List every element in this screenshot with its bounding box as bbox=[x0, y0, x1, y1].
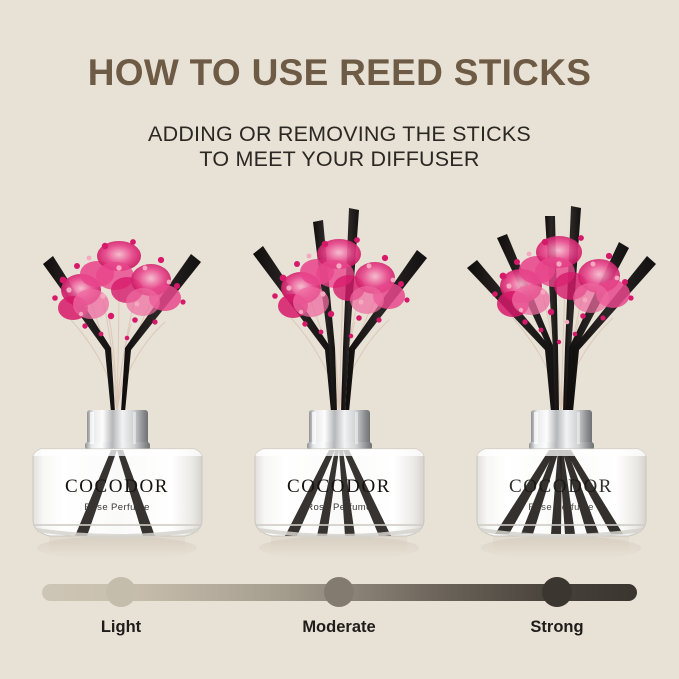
diffuser-bottle-strong: COCODOR Rose Perfume bbox=[459, 408, 664, 563]
product-moderate: COCODOR Rose Perfume bbox=[237, 198, 442, 563]
slider-knob-light[interactable] bbox=[106, 577, 136, 607]
subtitle-line-1: ADDING OR REMOVING THE STICKS bbox=[0, 122, 679, 147]
bottle-brand-name: COCODOR bbox=[509, 476, 613, 497]
infographic-page: HOW TO USE REED STICKS ADDING OR REMOVIN… bbox=[0, 0, 679, 679]
page-title: HOW TO USE REED STICKS bbox=[0, 52, 679, 94]
reed-arrangement-moderate bbox=[237, 198, 442, 413]
slider-knob-moderate[interactable] bbox=[324, 577, 354, 607]
bottle-brand-name: COCODOR bbox=[65, 476, 169, 497]
slider-label-light: Light bbox=[61, 618, 181, 637]
subtitle-line-2: TO MEET YOUR DIFFUSER bbox=[0, 147, 679, 172]
intensity-slider[interactable] bbox=[0, 572, 679, 622]
slider-label-moderate: Moderate bbox=[279, 618, 399, 637]
reed-arrangement-light bbox=[15, 198, 220, 413]
diffuser-bottle-moderate: COCODOR Rose Perfume bbox=[237, 408, 442, 563]
bottle-scent-name: Rose Perfume bbox=[528, 502, 594, 513]
flower-cluster bbox=[272, 237, 409, 338]
slider-labels: Light Moderate Strong bbox=[0, 618, 679, 644]
reed-arrangement-strong bbox=[459, 198, 664, 413]
product-comparison-row: COCODOR Rose Perfume bbox=[0, 198, 679, 563]
diffuser-bottle-light: COCODOR Rose Perfume bbox=[15, 408, 220, 563]
bottle-scent-name: Rose Perfume bbox=[306, 502, 372, 513]
product-strong: COCODOR Rose Perfume bbox=[459, 198, 664, 563]
product-light: COCODOR Rose Perfume bbox=[15, 198, 220, 563]
page-subtitle: ADDING OR REMOVING THE STICKS TO MEET YO… bbox=[0, 122, 679, 172]
bottle-brand-name: COCODOR bbox=[287, 476, 391, 497]
slider-knob-strong[interactable] bbox=[542, 577, 572, 607]
bottle-scent-name: Rose Perfume bbox=[84, 502, 150, 513]
slider-label-strong: Strong bbox=[497, 618, 617, 637]
